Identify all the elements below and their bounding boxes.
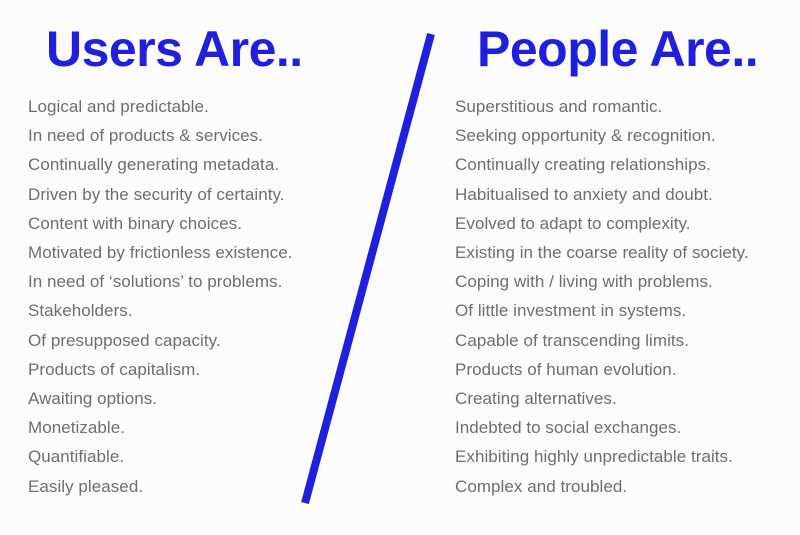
list-item: Logical and predictable. (28, 92, 292, 121)
list-item: Products of human evolution. (455, 355, 749, 384)
diagonal-divider-line (305, 34, 431, 503)
list-item: Continually generating metadata. (28, 150, 292, 179)
list-item: Habitualised to anxiety and doubt. (455, 180, 749, 209)
list-item: In need of products & services. (28, 121, 292, 150)
list-item: Indebted to social exchanges. (455, 413, 749, 442)
list-item: Monetizable. (28, 413, 292, 442)
list-item: Evolved to adapt to complexity. (455, 209, 749, 238)
list-item: Awaiting options. (28, 384, 292, 413)
list-item: Stakeholders. (28, 296, 292, 325)
list-item: Creating alternatives. (455, 384, 749, 413)
list-item: Capable of transcending limits. (455, 326, 749, 355)
list-item: Of little investment in systems. (455, 296, 749, 325)
list-item: Of presupposed capacity. (28, 326, 292, 355)
list-item: Exhibiting highly unpredictable traits. (455, 442, 749, 471)
page-title-users: Users Are.. (46, 20, 303, 78)
list-item: Motivated by frictionless existence. (28, 238, 292, 267)
list-item: Coping with / living with problems. (455, 267, 749, 296)
list-item: Content with binary choices. (28, 209, 292, 238)
list-item: Quantifiable. (28, 442, 292, 471)
trait-list-people: Superstitious and romantic. Seeking oppo… (455, 92, 749, 501)
list-item: Easily pleased. (28, 472, 292, 501)
list-item: In need of ‘solutions’ to problems. (28, 267, 292, 296)
page-title-people: People Are.. (477, 20, 758, 78)
list-item: Existing in the coarse reality of societ… (455, 238, 749, 267)
list-item: Superstitious and romantic. (455, 92, 749, 121)
list-item: Continually creating relationships. (455, 150, 749, 179)
trait-list-users: Logical and predictable. In need of prod… (28, 92, 292, 501)
list-item: Products of capitalism. (28, 355, 292, 384)
list-item: Complex and troubled. (455, 472, 749, 501)
list-item: Seeking opportunity & recognition. (455, 121, 749, 150)
list-item: Driven by the security of certainty. (28, 180, 292, 209)
slide-canvas: Users Are.. Logical and predictable. In … (0, 0, 800, 535)
